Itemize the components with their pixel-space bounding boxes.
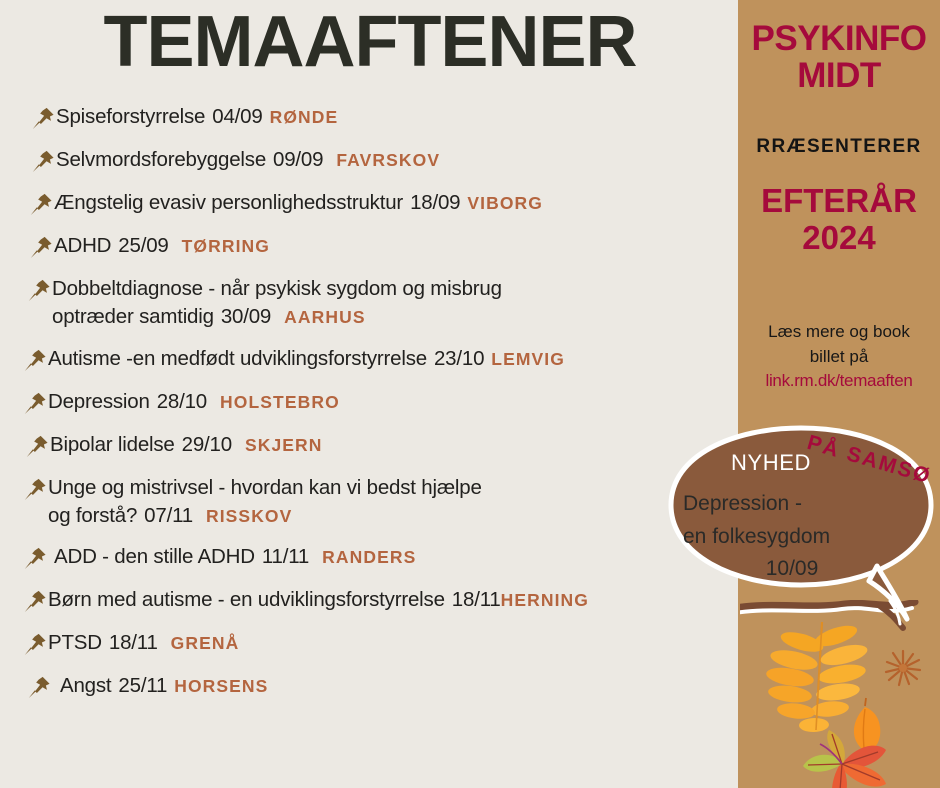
event-text: Depression28/10HOLSTEBRO: [48, 388, 760, 416]
season-line-2: 2024: [738, 220, 940, 257]
poster-canvas: TEMAAFTENER Spiseforstyrrelse04/09RØNDE: [0, 0, 940, 788]
season-block: EFTERÅR 2024: [738, 183, 940, 257]
event-text: Bipolar lidelse29/10SKJERN: [50, 431, 760, 459]
list-item[interactable]: Dobbeltdiagnose - når psykisk sygdom og …: [0, 275, 760, 332]
event-title: ADHD: [54, 234, 111, 257]
event-title: Bipolar lidelse: [50, 433, 175, 456]
event-title: ADD - den stille ADHD: [54, 545, 255, 568]
event-date: 29/10: [182, 433, 232, 456]
event-city: HOLSTEBRO: [220, 392, 340, 412]
event-city: RØNDE: [270, 107, 339, 127]
news-speech-bubble[interactable]: NYHED Depression - en folkesygdom 10/09 …: [663, 423, 940, 638]
event-title: Depression: [48, 390, 150, 413]
list-item[interactable]: Angst25/11HORSENS: [0, 672, 760, 702]
event-date: 25/09: [118, 234, 168, 257]
event-title: Selvmordsforebyggelse: [56, 148, 266, 171]
list-item[interactable]: Depression28/10HOLSTEBRO: [0, 388, 760, 418]
pushpin-icon: [22, 390, 48, 416]
event-title-line2: og forstå?: [48, 504, 137, 527]
event-text: Dobbeltdiagnose - når psykisk sygdom og …: [52, 275, 760, 332]
event-text: Ængstelig evasiv personlighedsstruktur18…: [54, 189, 760, 217]
pushpin-icon: [22, 347, 48, 373]
event-text: PTSD18/11GRENÅ: [48, 629, 760, 657]
pushpin-icon: [28, 234, 54, 260]
bubble-body-text: Depression - en folkesygdom 10/09: [677, 488, 907, 586]
list-item[interactable]: ADD - den stille ADHD11/11RANDERS: [0, 543, 760, 573]
event-date: 18/11: [109, 631, 158, 654]
event-text: Autisme -en medfødt udviklingsforstyrrel…: [48, 345, 760, 373]
event-date: 18/09: [410, 191, 460, 214]
event-text: ADHD25/09TØRRING: [54, 232, 760, 260]
event-date: 25/11: [118, 674, 167, 697]
list-item[interactable]: Spiseforstyrrelse04/09RØNDE: [0, 103, 760, 133]
event-date: 28/10: [157, 390, 207, 413]
pushpin-icon: [22, 588, 48, 614]
bubble-line-3: 10/09: [677, 553, 907, 586]
event-city: HORSENS: [174, 676, 268, 696]
speech-bubble-content: NYHED Depression - en folkesygdom 10/09 …: [663, 423, 940, 638]
event-city: SKJERN: [245, 435, 323, 455]
event-date: 11/11: [262, 545, 309, 568]
event-city: GRENÅ: [171, 633, 240, 653]
booking-link[interactable]: link.rm.dk/temaaften: [738, 369, 940, 394]
booking-line-1: Læs mere og book: [738, 320, 940, 345]
presenterer-label: RRÆSENTERER: [738, 136, 940, 158]
event-title: Angst: [60, 674, 111, 697]
event-date: 23/10: [434, 347, 484, 370]
page-title: TEMAAFTENER: [0, 6, 740, 78]
left-column: TEMAAFTENER Spiseforstyrrelse04/09RØNDE: [0, 0, 740, 788]
event-title: Unge og mistrivsel - hvordan kan vi beds…: [48, 474, 760, 502]
event-date: 09/09: [273, 148, 323, 171]
event-city: VIBORG: [467, 193, 543, 213]
pushpin-icon: [30, 148, 56, 174]
bubble-line-1: Depression -: [677, 488, 907, 521]
booking-line-2: billet på: [738, 345, 940, 370]
brand-line-1: PSYKINFO: [738, 20, 940, 57]
list-item[interactable]: Selvmordsforebyggelse09/09FAVRSKOV: [0, 146, 760, 176]
event-city: LEMVIG: [491, 349, 565, 369]
event-title: Spiseforstyrrelse: [56, 105, 205, 128]
list-item[interactable]: PTSD18/11GRENÅ: [0, 629, 760, 659]
brand-line-2: MIDT: [738, 57, 940, 94]
event-date: 18/11: [452, 588, 501, 611]
list-item[interactable]: Ængstelig evasiv personlighedsstruktur18…: [0, 189, 760, 219]
event-text: ADD - den stille ADHD11/11RANDERS: [48, 543, 760, 571]
list-item[interactable]: Autisme -en medfødt udviklingsforstyrrel…: [0, 345, 760, 375]
event-date: 07/11: [144, 504, 193, 527]
event-date: 04/09: [212, 105, 262, 128]
season-line-1: EFTERÅR: [738, 183, 940, 220]
event-date: 30/09: [221, 305, 271, 328]
sidebar-panel: PSYKINFO MIDT RRÆSENTERER EFTERÅR 2024 L…: [738, 0, 940, 788]
event-title: Ængstelig evasiv personlighedsstruktur: [54, 191, 403, 214]
event-title-line2: optræder samtidig: [52, 305, 214, 328]
event-text: Angst25/11HORSENS: [52, 672, 760, 700]
event-city: FAVRSKOV: [336, 150, 440, 170]
pushpin-icon: [22, 631, 48, 657]
event-text: Selvmordsforebyggelse09/09FAVRSKOV: [56, 146, 760, 174]
event-title: Børn med autisme - en udviklingsforstyrr…: [48, 588, 445, 611]
list-item[interactable]: Unge og mistrivsel - hvordan kan vi beds…: [0, 474, 760, 531]
event-list: Spiseforstyrrelse04/09RØNDE Selvmordsfor…: [0, 103, 760, 715]
list-item[interactable]: Børn med autisme - en udviklingsforstyrr…: [0, 586, 760, 616]
list-item[interactable]: ADHD25/09TØRRING: [0, 232, 760, 262]
event-city: AARHUS: [284, 307, 365, 327]
list-item[interactable]: Bipolar lidelse29/10SKJERN: [0, 431, 760, 461]
pushpin-icon: [24, 433, 50, 459]
pushpin-icon: [22, 545, 48, 571]
event-city: HERNING: [501, 590, 589, 610]
booking-block: Læs mere og book billet på link.rm.dk/te…: [738, 320, 940, 394]
event-title: Dobbeltdiagnose - når psykisk sygdom og …: [52, 275, 760, 303]
event-title: Autisme -en medfødt udviklingsforstyrrel…: [48, 347, 427, 370]
pushpin-icon: [22, 476, 48, 502]
event-city: TØRRING: [182, 236, 270, 256]
pushpin-icon: [30, 105, 56, 131]
event-text: Børn med autisme - en udviklingsforstyrr…: [48, 586, 760, 614]
pushpin-icon: [26, 674, 52, 700]
event-title: PTSD: [48, 631, 102, 654]
pushpin-icon: [28, 191, 54, 217]
event-text: Spiseforstyrrelse04/09RØNDE: [56, 103, 760, 131]
bubble-line-2: en folkesygdom: [677, 521, 907, 554]
brand-block: PSYKINFO MIDT: [738, 20, 940, 94]
pushpin-icon: [26, 277, 52, 303]
event-city: RANDERS: [322, 547, 416, 567]
event-text: Unge og mistrivsel - hvordan kan vi beds…: [48, 474, 760, 531]
event-city: RISSKOV: [206, 506, 292, 526]
